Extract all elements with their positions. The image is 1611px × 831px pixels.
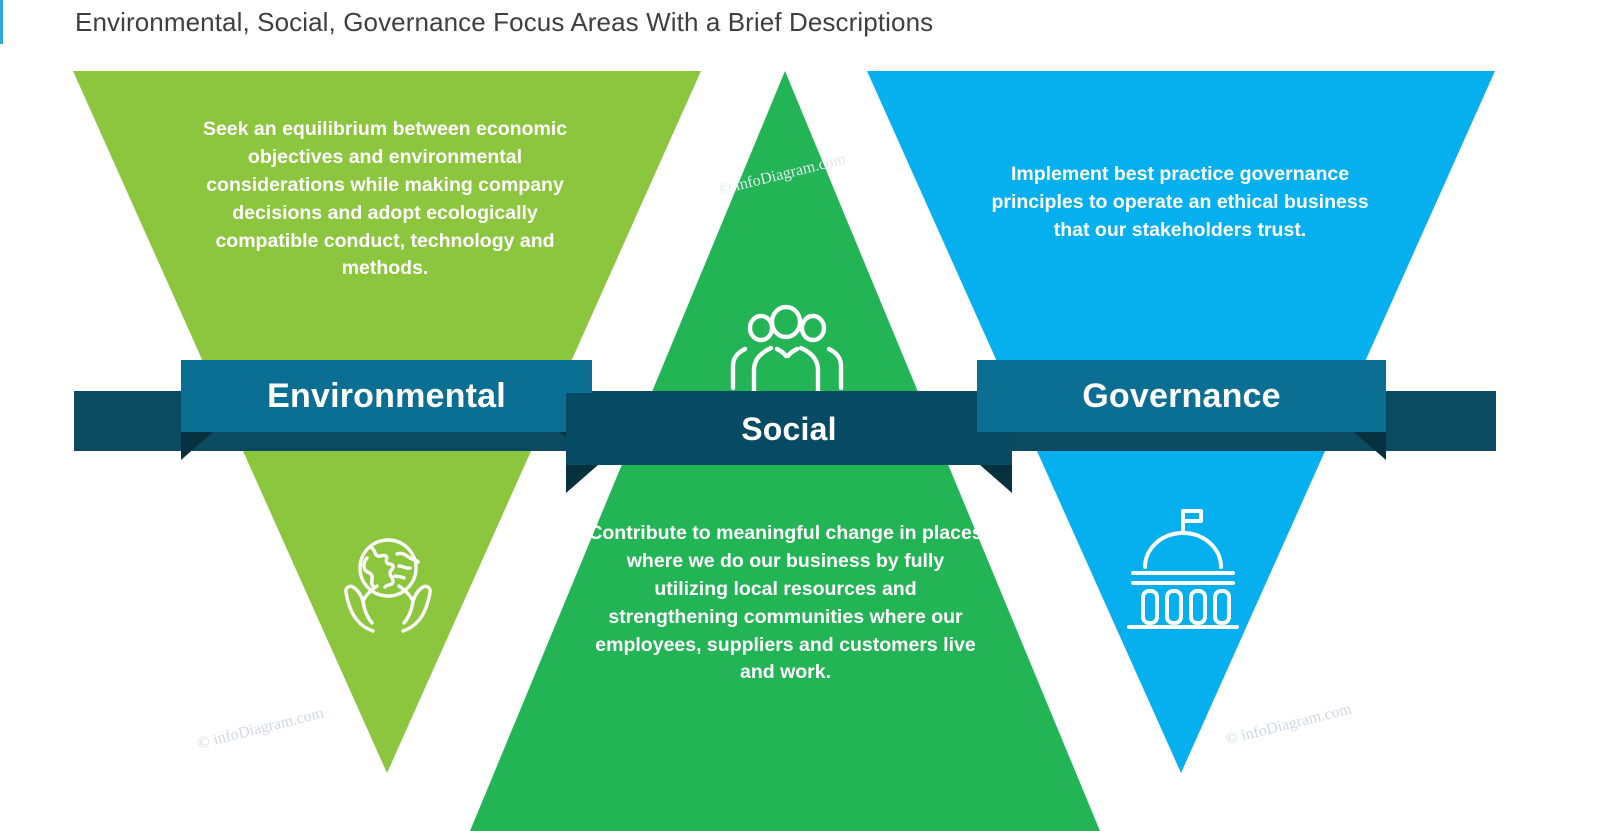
label-governance-text: Governance xyxy=(1082,377,1281,416)
watermark-right: © infoDiagram.com xyxy=(1224,701,1354,750)
description-social: Contribute to meaningful change in place… xyxy=(588,520,983,687)
label-environmental-text: Environmental xyxy=(267,377,506,416)
globe-in-hands-icon xyxy=(327,528,449,634)
label-governance[interactable]: Governance xyxy=(977,360,1386,432)
watermark-left: © infoDiagram.com xyxy=(196,705,326,754)
ribbon-fold-social-right xyxy=(980,465,1012,493)
description-governance: Implement best practice governance princ… xyxy=(990,161,1370,245)
label-social-text: Social xyxy=(741,411,836,448)
government-building-icon xyxy=(1123,505,1243,629)
slide-accent-edge xyxy=(0,0,3,44)
ribbon-fold-social-left xyxy=(566,465,598,493)
label-social[interactable]: Social xyxy=(566,393,1012,465)
esg-diagram: Seek an equilibrium between economic obj… xyxy=(0,58,1611,769)
description-environmental: Seek an equilibrium between economic obj… xyxy=(190,116,580,283)
label-environmental[interactable]: Environmental xyxy=(181,360,592,432)
three-people-icon xyxy=(716,304,856,396)
page-title: Environmental, Social, Governance Focus … xyxy=(75,7,933,38)
